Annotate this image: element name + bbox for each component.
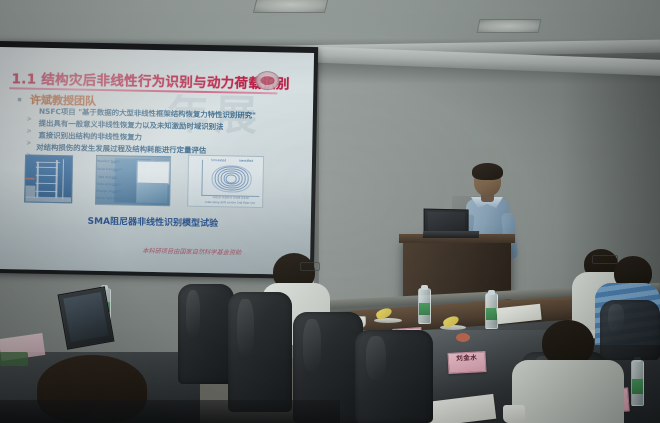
- audience-chair: [355, 330, 433, 423]
- ceiling-light-fixture: [477, 19, 542, 33]
- screen-vignette: [0, 47, 314, 275]
- projected-slide: 年展 1.1 结构灾后非线性行为识别与动力荷载识别 ▪ 许斌教授团队 ≽ NSF…: [0, 47, 314, 275]
- foreground-shadow: [0, 400, 340, 423]
- bottle-label: [486, 308, 497, 320]
- attendee-body: [512, 360, 624, 423]
- laptop-keyboard: [423, 231, 479, 238]
- bottle-cap: [421, 285, 428, 290]
- laptop-screen: [428, 212, 465, 232]
- name-placard: 刘金水: [447, 351, 486, 374]
- fruit: [456, 333, 470, 342]
- conference-room-photo: 年展 1.1 结构灾后非线性行为识别与动力荷载识别 ▪ 许斌教授团队 ≽ NSF…: [0, 0, 660, 423]
- water-bottle: [418, 288, 431, 324]
- ceiling-light-fixture: [253, 0, 329, 13]
- eyeglasses: [592, 255, 618, 264]
- bottle-label: [632, 379, 643, 394]
- water-bottle: [631, 360, 644, 406]
- presenter-hair: [472, 163, 503, 180]
- attendee-laptop: [58, 286, 115, 349]
- audience-chair: [178, 284, 234, 384]
- eyeglasses: [300, 262, 320, 271]
- bottle-cap: [488, 290, 495, 295]
- laptop-screen: [63, 292, 108, 342]
- bottle-label: [0, 352, 28, 366]
- audience-chair: [228, 292, 292, 412]
- projection-screen: 年展 1.1 结构灾后非线性行为识别与动力荷载识别 ▪ 许斌教授团队 ≽ NSF…: [0, 41, 318, 279]
- teacup: [503, 405, 525, 423]
- audience-chair: [600, 300, 660, 360]
- bottle-label: [419, 303, 430, 315]
